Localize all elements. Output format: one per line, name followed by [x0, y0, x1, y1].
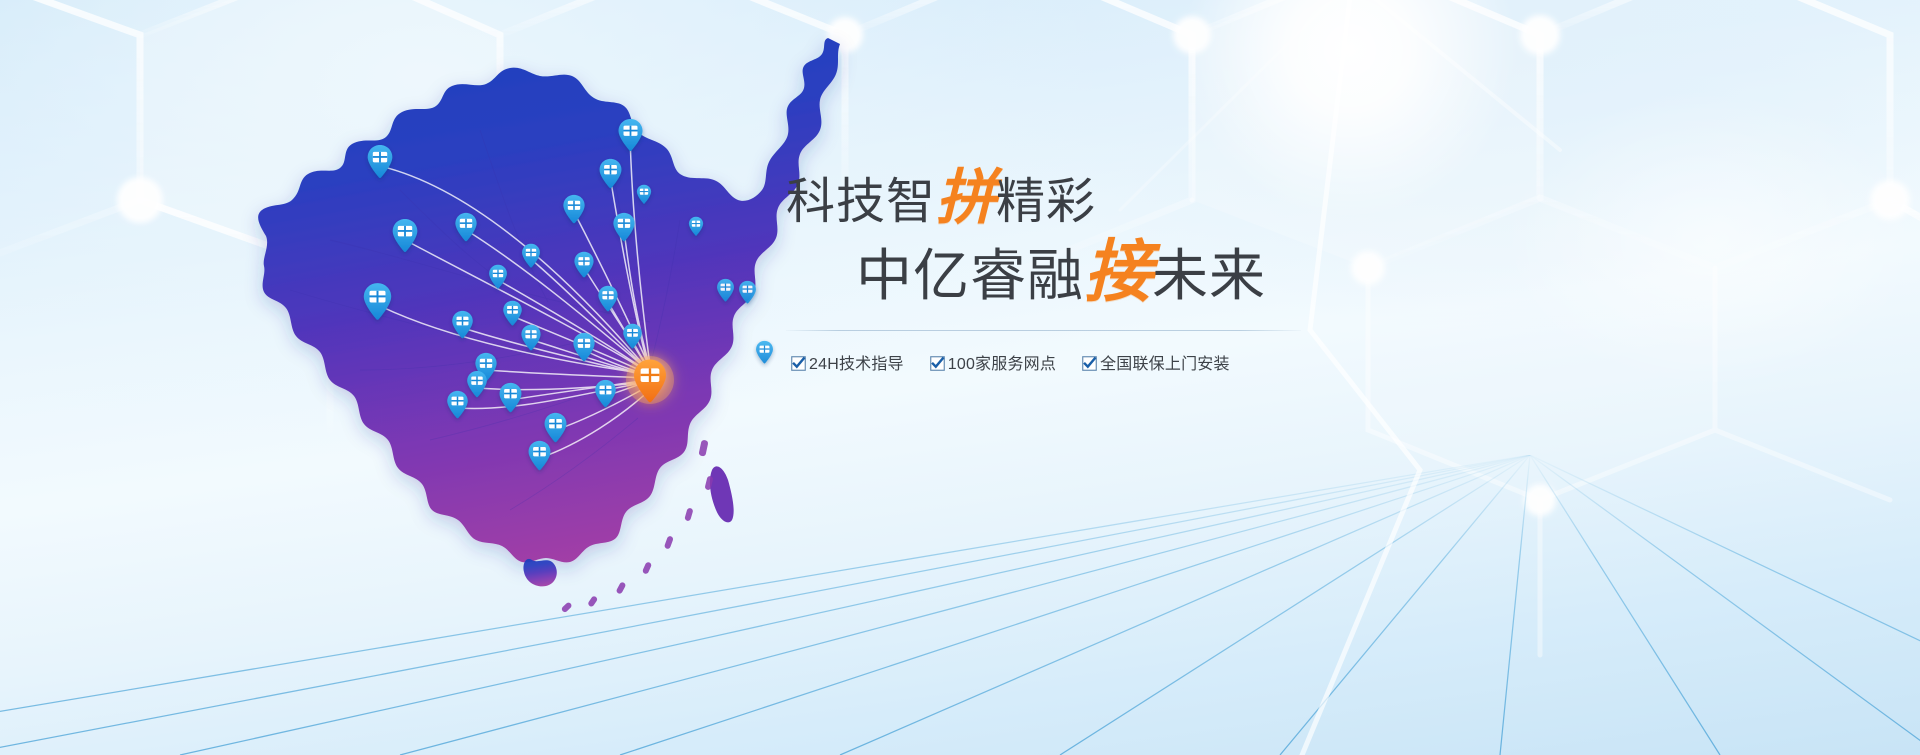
promo-banner: 科技智拼精彩 中亿睿融接未来 24H技术指导: [0, 0, 1920, 755]
feature-item-service-points: 100家服务网点: [930, 350, 1056, 374]
hub-marker-guangdong: [626, 356, 674, 404]
headline-line-2: 中亿睿融接未来: [778, 238, 1318, 306]
headline-line2-suffix: 未来: [1152, 244, 1266, 307]
offshore-marker: [756, 341, 773, 364]
feature-item-warranty: 全国联保上门安装: [1082, 350, 1230, 374]
headline-line2-prefix: 中亿睿融: [856, 244, 1084, 307]
headline-line1-prefix: 科技智: [786, 175, 936, 229]
checkbox-checked-icon: [1082, 356, 1097, 371]
feature-item-support: 24H技术指导: [791, 350, 904, 374]
headline-line1-accent: 拼: [936, 163, 996, 233]
feature-list: 24H技术指导 100家服务网点 全国联保上: [791, 350, 1318, 374]
feature-label: 24H技术指导: [809, 350, 904, 374]
checkbox-checked-icon: [791, 356, 806, 371]
headline-line-1: 科技智拼精彩: [778, 168, 1318, 228]
soft-glow: [1500, 90, 1920, 390]
feature-label: 100家服务网点: [948, 350, 1056, 374]
feature-label: 全国联保上门安装: [1100, 350, 1230, 374]
headline-divider: [786, 330, 1301, 331]
headline-line1-suffix: 精彩: [996, 175, 1096, 229]
banner-copy: 科技智拼精彩 中亿睿融接未来 24H技术指导: [778, 168, 1318, 374]
headline-line2-accent: 接: [1084, 232, 1152, 312]
china-map: [180, 40, 800, 610]
headline: 科技智拼精彩 中亿睿融接未来: [778, 168, 1318, 306]
checkbox-checked-icon: [930, 356, 945, 371]
